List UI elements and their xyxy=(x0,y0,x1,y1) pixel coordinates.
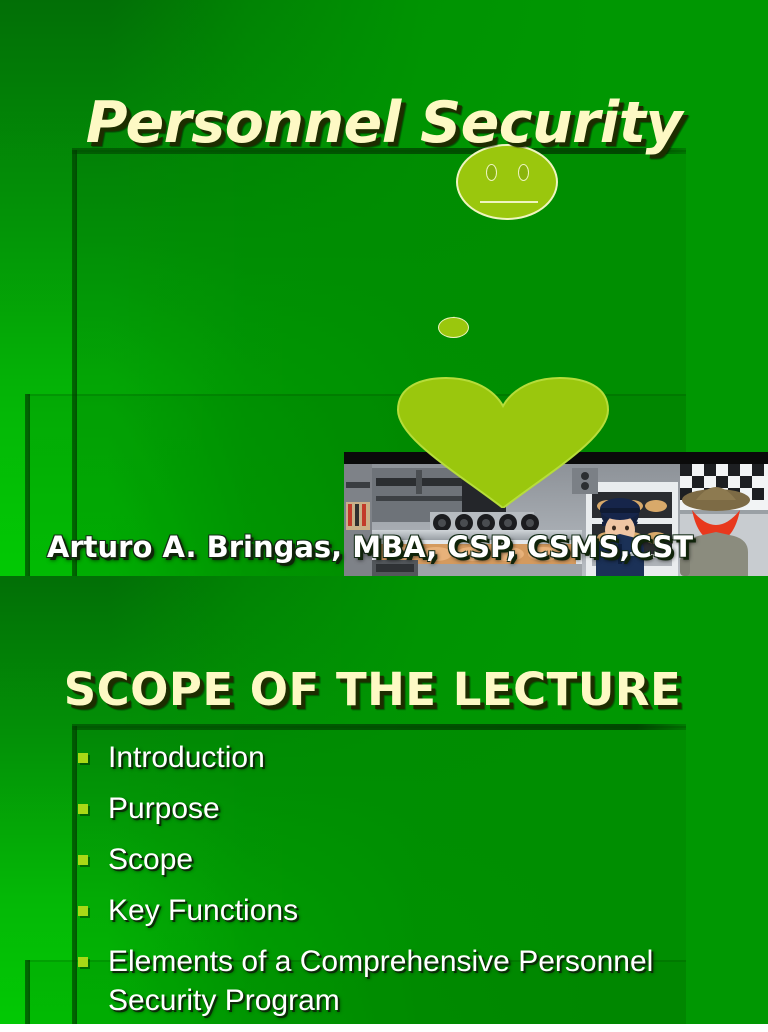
slide-deck: Personnel Security xyxy=(0,0,768,1024)
list-item: Elements of a Comprehensive Personnel Se… xyxy=(78,942,758,1022)
list-item-label: Key Functions xyxy=(108,891,298,931)
sun-core-icon xyxy=(438,317,469,338)
square-bullet-icon xyxy=(78,855,88,865)
list-item-label: Elements of a Comprehensive Personnel Se… xyxy=(108,942,758,1022)
smiley-left-eye-icon xyxy=(486,164,497,181)
list-item: Key Functions xyxy=(78,891,758,931)
slide-1-title-slide: Personnel Security xyxy=(0,0,768,576)
list-item: Introduction xyxy=(78,738,758,778)
slide-2-vertical-accent-lower xyxy=(25,960,30,1024)
slide-1-title: Personnel Security xyxy=(0,90,768,156)
square-bullet-icon xyxy=(78,804,88,814)
list-item: Purpose xyxy=(78,789,758,829)
square-bullet-icon xyxy=(78,957,88,967)
list-item-label: Scope xyxy=(108,840,193,880)
slide-1-subtitle: Arturo A. Bringas, MBA, CSP, CSMS,CST xyxy=(0,530,740,564)
smiley-mouth-icon xyxy=(480,201,538,203)
heart-icon xyxy=(396,376,610,508)
slide-2-vertical-accent xyxy=(72,726,77,1024)
smiley-right-eye-icon xyxy=(518,164,529,181)
slide-2-bullet-list: Introduction Purpose Scope Key Functions… xyxy=(78,738,758,1032)
sun-icon xyxy=(425,308,482,346)
slide-2-title: SCOPE OF THE LECTURE xyxy=(0,663,745,716)
square-bullet-icon xyxy=(78,906,88,916)
list-item-label: Introduction xyxy=(108,738,265,778)
list-item-label: Purpose xyxy=(108,789,220,829)
slide-1-vertical-accent xyxy=(72,150,77,576)
square-bullet-icon xyxy=(78,753,88,763)
list-item: Scope xyxy=(78,840,758,880)
slide-2-divider-line xyxy=(72,724,686,730)
